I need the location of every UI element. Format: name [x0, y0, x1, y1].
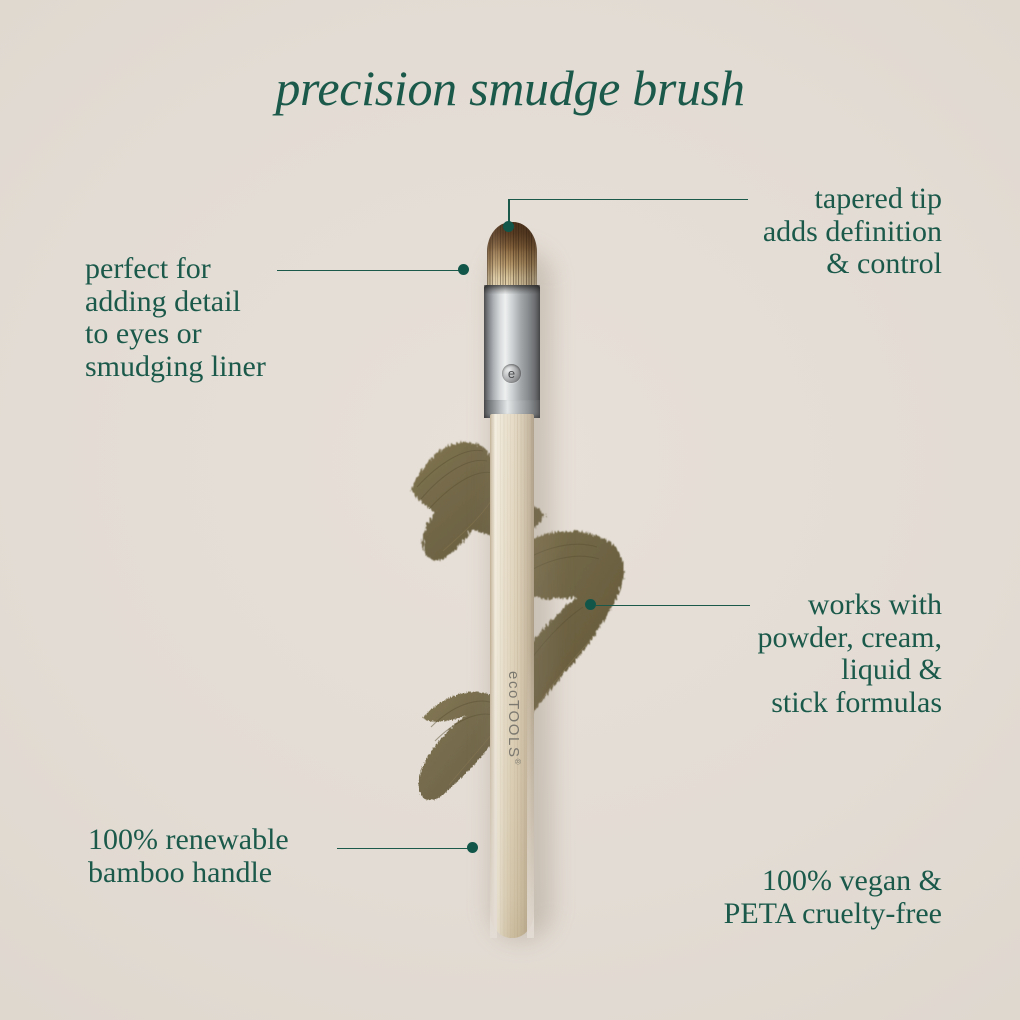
callout-vegan-peta-line-1: 100% vegan & — [618, 865, 942, 898]
callout-works-with-line-2: powder, cream, — [652, 622, 942, 655]
handle-taper-right — [527, 414, 534, 938]
brand-name-imprint: ecoTOOLS® — [502, 671, 522, 733]
callout-tapered-tip-line-2: adds definition — [656, 216, 942, 249]
callout-perfect-for-line-2: adding detail — [85, 286, 385, 319]
brand-name-text: ecoTOOLS — [505, 671, 522, 759]
callout-perfect-for-line-1: perfect for — [85, 253, 385, 286]
callout-bamboo-handle-line-1: 100% renewable — [88, 824, 418, 857]
leader-dot-bamboo-handle — [467, 842, 478, 853]
registered-trademark-symbol: ® — [513, 759, 522, 767]
callout-vegan-peta-line-2: PETA cruelty-free — [618, 898, 942, 931]
callout-works-with-line-4: stick formulas — [652, 687, 942, 720]
makeup-brush-product: e ecoTOOLS® — [481, 222, 543, 938]
callout-perfect-for-line-3: to eyes or — [85, 318, 385, 351]
callout-works-with-line-1: works with — [652, 589, 942, 622]
leader-dot-works-with — [585, 599, 596, 610]
leader-dot-perfect-for — [458, 264, 469, 275]
page-title: precision smudge brush — [0, 63, 1020, 113]
callout-tapered-tip: tapered tip adds definition & control — [656, 183, 942, 281]
callout-bamboo-handle: 100% renewable bamboo handle — [88, 824, 418, 889]
brush-ferrule — [484, 285, 540, 418]
brush-ferrule-top-shadow — [484, 285, 540, 294]
callout-tapered-tip-line-3: & control — [656, 248, 942, 281]
handle-taper-left — [490, 414, 497, 938]
callout-works-with: works with powder, cream, liquid & stick… — [652, 589, 942, 719]
callout-perfect-for: perfect for adding detail to eyes or smu… — [85, 253, 385, 383]
callout-vegan-peta: 100% vegan & PETA cruelty-free — [618, 865, 942, 930]
callout-bamboo-handle-line-2: bamboo handle — [88, 857, 418, 890]
callout-perfect-for-line-4: smudging liner — [85, 351, 385, 384]
callout-tapered-tip-line-1: tapered tip — [656, 183, 942, 216]
leader-dot-tapered-tip — [503, 221, 514, 232]
callout-works-with-line-3: liquid & — [652, 654, 942, 687]
infographic-canvas: precision smudge brush — [0, 0, 1020, 1020]
brand-logo-icon: e — [502, 364, 521, 383]
